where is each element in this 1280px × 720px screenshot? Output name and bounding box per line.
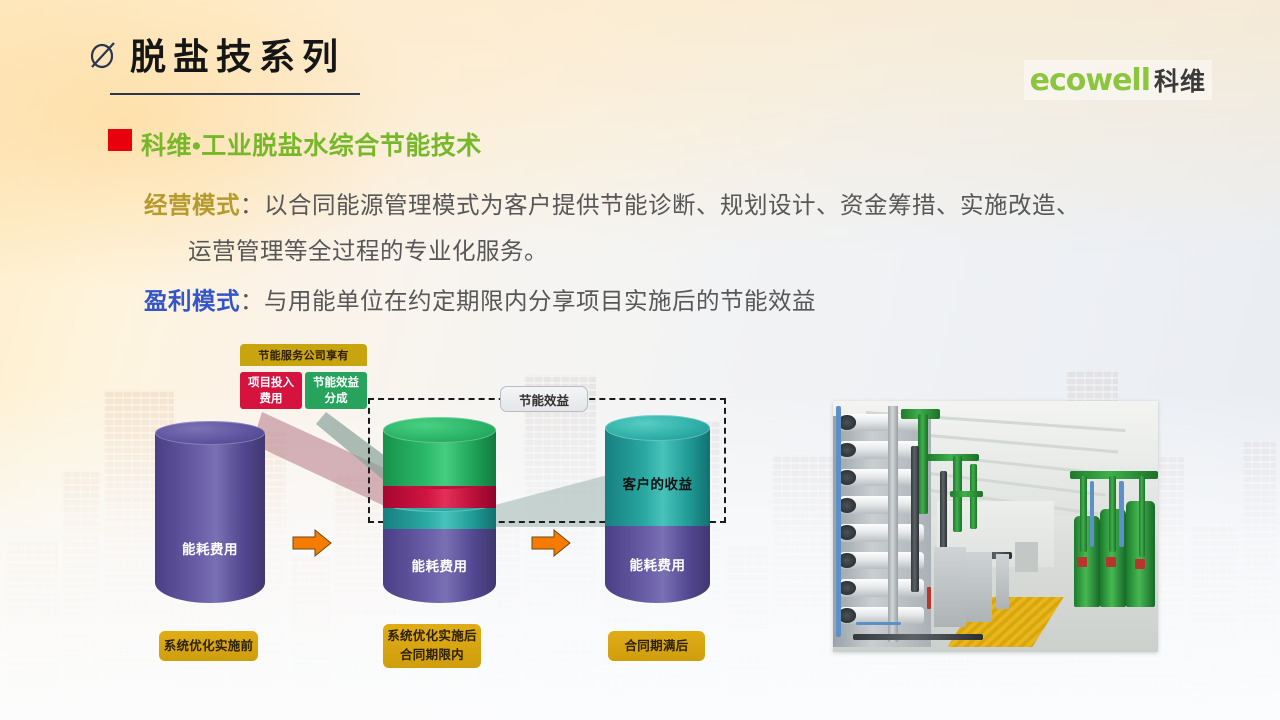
paragraph-1-line1: 以合同能源管理模式为客户提供节能诊断、规划设计、资金筹措、实施改造、 [264, 192, 1080, 218]
arrow-1-icon [291, 528, 333, 558]
owner-box-label: 节能服务公司享有 [240, 344, 367, 366]
cylinder-2-label-energy: 能耗费用 [383, 555, 496, 575]
cylinder-during-contract: 能耗费用 [383, 430, 496, 603]
cylinder-1-footer-line1: 系统优化实施前 [164, 637, 254, 656]
cylinder-2-footer-line2: 合同期限内 [400, 646, 464, 665]
cylinder-2-footer: 系统优化实施后 合同期限内 [383, 624, 481, 668]
cylinder-3-footer-line1: 合同期满后 [624, 637, 688, 656]
paragraph-1-separator: ： [240, 192, 264, 218]
cylinder-2-footer-line1: 系统优化实施后 [387, 627, 477, 646]
logo-wordmark: ecowell [1030, 63, 1150, 98]
cylinder-before-optimization: 能耗费用 [155, 433, 265, 603]
cylinder-1-footer: 系统优化实施前 [159, 631, 258, 661]
title-underline [110, 93, 360, 95]
owner-child-investment-line1: 项目投入 [248, 375, 294, 391]
page-title: 脱盐技系列 [130, 28, 345, 80]
circle-slash-icon [88, 40, 118, 70]
heading-bullet-square [108, 129, 132, 151]
slide-canvas: 脱盐技系列 ecowell 科维 科维•工业脱盐水综合节能技术 经营模式：以合同… [0, 0, 1280, 720]
cylinder-after-contract: 能耗费用 客户的收益 [605, 428, 710, 603]
arrow-2-icon [530, 528, 572, 558]
owner-child-share-line2: 分成 [325, 391, 348, 407]
paragraph-profit-model: 盈利模式：与用能单位在约定期限内分享项目实施后的节能效益 [144, 278, 1234, 324]
paragraph-2-separator: ： [240, 288, 264, 314]
cylinder-3-label-energy: 能耗费用 [605, 554, 710, 574]
paragraph-business-model: 经营模式：以合同能源管理模式为客户提供节能诊断、规划设计、资金筹措、实施改造、 … [144, 182, 1234, 274]
owner-child-share-line1: 节能效益 [313, 375, 359, 391]
paragraph-2-line1: 与用能单位在约定期限内分享项目实施后的节能效益 [264, 288, 816, 314]
paragraph-2-key: 盈利模式 [144, 288, 240, 314]
paragraph-1-key: 经营模式 [144, 192, 240, 218]
section-heading: 科维•工业脱盐水综合节能技术 [141, 126, 482, 162]
benefit-tag: 节能效益 [500, 386, 588, 412]
paragraph-1-line2: 运营管理等全过程的专业化服务。 [144, 228, 1234, 274]
logo-wordmark-cn: 科维 [1154, 62, 1206, 98]
cylinder-3-label-customer: 客户的收益 [605, 473, 710, 493]
cylinder-3-footer: 合同期满后 [608, 631, 705, 661]
owner-child-investment-line2: 费用 [260, 391, 283, 407]
owner-child-investment: 项目投入 费用 [240, 372, 302, 409]
owner-child-share: 节能效益 分成 [305, 372, 367, 409]
cylinder-1-label: 能耗费用 [155, 538, 265, 558]
water-treatment-plant-photo [833, 401, 1158, 652]
brand-logo: ecowell 科维 [1024, 60, 1212, 100]
